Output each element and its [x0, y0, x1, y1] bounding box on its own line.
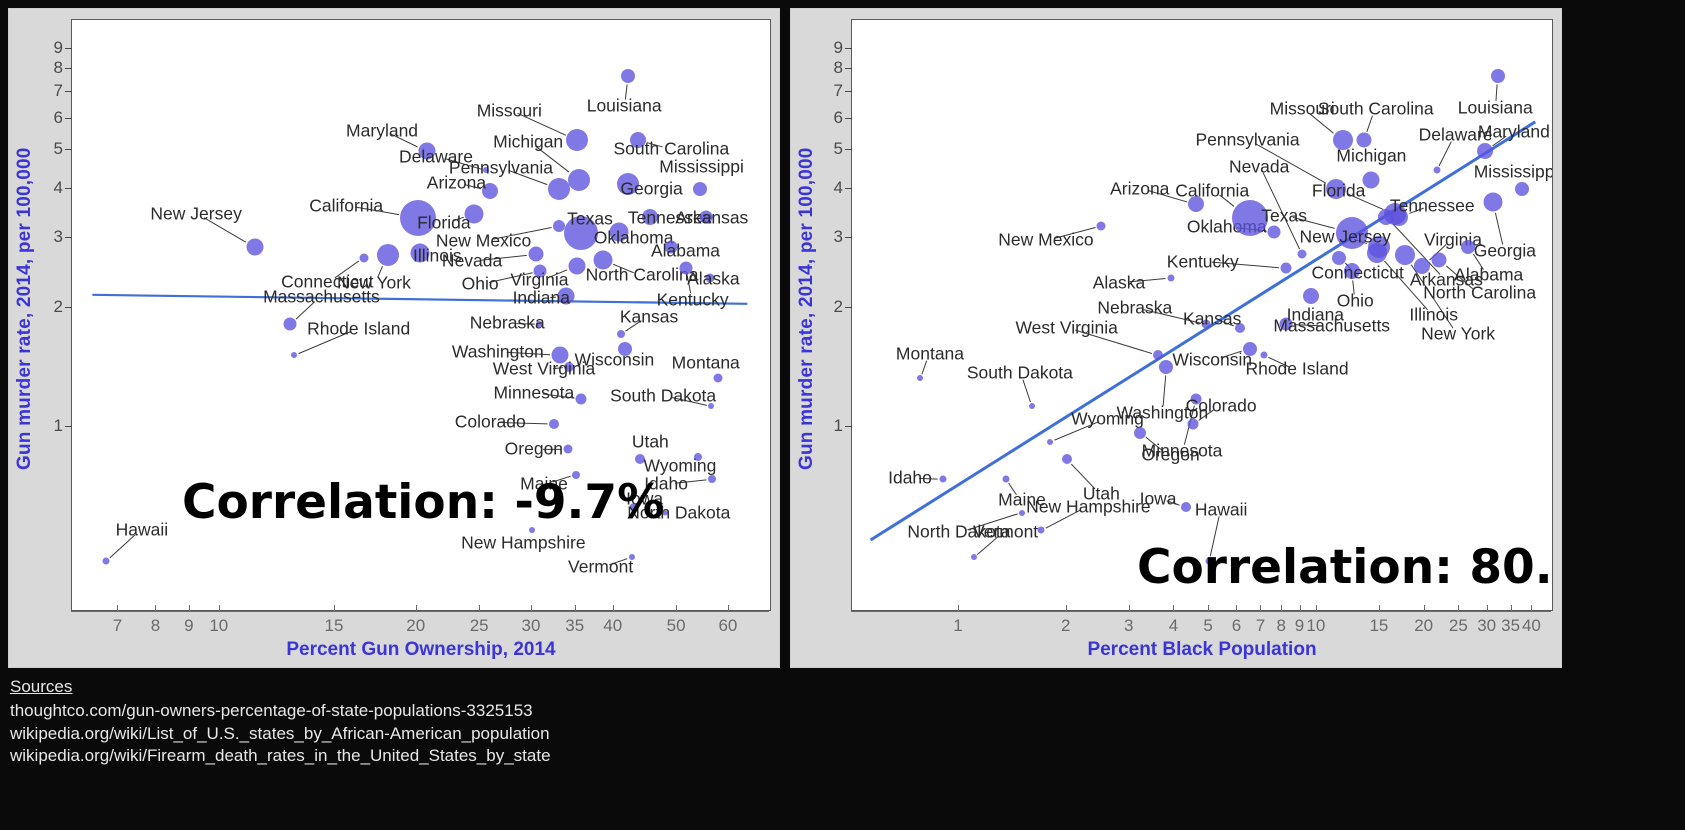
sources-block: Sources thoughtco.com/gun-owners-percent… [10, 676, 551, 768]
sources-heading: Sources [10, 676, 551, 698]
y-tick-label: 2 [809, 297, 843, 317]
state-label: North Dakota [907, 521, 1010, 542]
x-tick-mark [728, 605, 729, 611]
label-leader-line [1495, 213, 1502, 245]
y-tick-mark [65, 91, 72, 92]
state-label: Arizona [1110, 178, 1169, 199]
y-tick-mark [65, 188, 72, 189]
state-label: California [1175, 180, 1249, 201]
scatter-point[interactable] [359, 253, 368, 262]
scatter-point[interactable] [679, 262, 692, 275]
state-label: South Dakota [610, 386, 716, 407]
y-tick-mark [65, 149, 72, 150]
scatter-point[interactable] [563, 445, 572, 454]
scatter-point[interactable] [617, 330, 625, 338]
state-label: Iowa [1140, 488, 1177, 509]
x-tick-label: 40 [1522, 616, 1541, 636]
state-label: New Hampshire [461, 533, 585, 554]
y-tick-label: 1 [29, 416, 63, 436]
y-tick-mark [65, 237, 72, 238]
state-label: Washington [1116, 402, 1208, 423]
state-label: California [309, 195, 383, 216]
state-label: Florida [1312, 180, 1366, 201]
state-label: Michigan [1336, 145, 1406, 166]
state-label: Kansas [1183, 308, 1241, 329]
x-tick-label: 15 [1369, 616, 1388, 636]
state-label: South Dakota [967, 363, 1073, 384]
y-tick-mark [845, 118, 852, 119]
scatter-point[interactable] [1047, 439, 1053, 445]
state-label: North Carolina [1423, 283, 1536, 304]
y-tick-label: 7 [29, 81, 63, 101]
x-tick-label: 5 [1203, 616, 1212, 636]
y-tick-mark [65, 426, 72, 427]
state-label: Nevada [1229, 156, 1289, 177]
x-tick-label: 7 [1256, 616, 1265, 636]
x-tick-label: 10 [1306, 616, 1325, 636]
state-label: Ohio [462, 274, 499, 295]
x-tick-label: 8 [1276, 616, 1285, 636]
y-tick-label: 9 [809, 38, 843, 58]
x-tick-mark [1458, 605, 1459, 611]
state-label: South Carolina [1318, 99, 1434, 120]
scatter-point[interactable] [1062, 454, 1072, 464]
x-tick-mark [1129, 605, 1130, 611]
state-label: New Mexico [998, 229, 1093, 250]
state-label: Texas [1261, 205, 1307, 226]
state-label: New Mexico [436, 230, 531, 251]
x-tick-label: 8 [151, 616, 160, 636]
y-tick-label: 5 [29, 139, 63, 159]
source-link-1[interactable]: thoughtco.com/gun-owners-percentage-of-s… [10, 700, 551, 722]
state-label: Mississippi [1474, 162, 1553, 183]
x-tick-mark [1208, 605, 1209, 611]
scatter-point[interactable] [103, 558, 110, 565]
state-label: Kentucky [1167, 251, 1239, 272]
scatter-point[interactable] [1395, 245, 1415, 265]
x-tick-label: 30 [1477, 616, 1496, 636]
y-tick-mark [845, 426, 852, 427]
chart-panel-black-population: Gun murder rate, 2014, per 100,000 Vermo… [790, 8, 1562, 668]
y-tick-label: 3 [29, 227, 63, 247]
x-tick-label: 25 [1449, 616, 1468, 636]
scatter-point[interactable] [291, 352, 297, 358]
y-tick-label: 6 [29, 108, 63, 128]
scatter-point[interactable] [548, 178, 570, 200]
scatter-point[interactable] [708, 475, 716, 483]
state-label: Michigan [493, 131, 563, 152]
scatter-point[interactable] [621, 69, 635, 83]
x-tick-mark [1487, 605, 1488, 611]
state-label: Missouri [477, 100, 542, 121]
x-axis-line [71, 611, 769, 612]
state-label: Montana [672, 353, 740, 374]
state-label: Rhode Island [307, 319, 410, 340]
chart-panel-gun-ownership: Gun murder rate, 2014, per 100,000 Hawai… [8, 8, 780, 668]
correlation-annotation-left: Correlation: -9.7% [182, 475, 664, 530]
state-label: Arkansas [675, 207, 748, 228]
y-tick-mark [845, 188, 852, 189]
y-tick-label: 4 [809, 178, 843, 198]
y-tick-label: 8 [809, 58, 843, 78]
state-label: Indiana [1287, 305, 1344, 326]
scatter-point[interactable] [1303, 288, 1319, 304]
scatter-point[interactable] [1367, 243, 1387, 263]
y-tick-label: 5 [809, 139, 843, 159]
state-label: New York [337, 272, 411, 293]
state-label: Idaho [888, 468, 932, 489]
scatter-point[interactable] [377, 244, 399, 266]
x-tick-label: 50 [667, 616, 686, 636]
y-tick-label: 7 [809, 81, 843, 101]
state-label: Rhode Island [1245, 359, 1348, 380]
state-label: Alabama [1454, 265, 1523, 286]
state-label: Alaska [1093, 272, 1146, 293]
x-tick-label: 20 [1414, 616, 1433, 636]
x-axis-line [851, 611, 1551, 612]
x-tick-label: 7 [113, 616, 122, 636]
x-tick-label: 20 [406, 616, 425, 636]
state-label: Alaska [687, 268, 740, 289]
scatter-point[interactable] [1298, 250, 1307, 259]
y-tick-mark [65, 68, 72, 69]
y-tick-label: 4 [29, 178, 63, 198]
scatter-point[interactable] [1432, 253, 1447, 268]
state-label: Louisiana [587, 96, 662, 117]
y-tick-mark [65, 118, 72, 119]
source-link-2[interactable]: wikipedia.org/wiki/List_of_U.S._states_b… [10, 723, 551, 745]
x-tick-mark [117, 605, 118, 611]
screenshot-root: Gun murder rate, 2014, per 100,000 Hawai… [0, 0, 1685, 830]
x-tick-label: 35 [565, 616, 584, 636]
x-tick-label: 9 [184, 616, 193, 636]
x-tick-mark [575, 605, 576, 611]
state-label: Colorado [455, 412, 526, 433]
state-label: Indiana [513, 288, 570, 309]
y-tick-mark [845, 307, 852, 308]
x-tick-mark [189, 605, 190, 611]
y-tick-label: 3 [809, 227, 843, 247]
state-label: Ohio [1337, 291, 1374, 312]
scatter-point[interactable] [1515, 182, 1529, 196]
scatter-point[interactable] [246, 239, 263, 256]
plot-area-gun-ownership: HawaiiNew JerseyMassachusettsRhode Islan… [71, 19, 771, 611]
scatter-point[interactable] [1038, 527, 1045, 534]
scatter-point[interactable] [1181, 502, 1191, 512]
x-tick-label: 60 [718, 616, 737, 636]
x-tick-label: 2 [1061, 616, 1070, 636]
y-tick-label: 1 [809, 416, 843, 436]
x-tick-mark [1281, 605, 1282, 611]
scatter-point[interactable] [1268, 225, 1281, 238]
state-label: Hawaii [1195, 499, 1248, 520]
y-tick-label: 8 [29, 58, 63, 78]
x-tick-mark [1236, 605, 1237, 611]
x-tick-label: 30 [522, 616, 541, 636]
y-tick-mark [65, 48, 72, 49]
state-label: Wisconsin [575, 349, 655, 370]
scatter-point[interactable] [1378, 209, 1394, 225]
x-tick-mark [1260, 605, 1261, 611]
state-label: Georgia [1474, 241, 1536, 262]
y-tick-mark [845, 149, 852, 150]
scatter-point[interactable] [566, 129, 588, 151]
scatter-point[interactable] [1483, 193, 1502, 212]
state-label: Nebraska [470, 313, 545, 334]
scatter-point[interactable] [713, 374, 722, 383]
scatter-point[interactable] [939, 476, 946, 483]
x-tick-label: 1 [953, 616, 962, 636]
y-tick-mark [65, 307, 72, 308]
state-label: Illinois [1409, 305, 1458, 326]
state-label: Nevada [442, 250, 502, 271]
state-label: Maryland [1478, 122, 1550, 143]
state-label: Kansas [620, 306, 678, 327]
state-label: New York [1421, 324, 1495, 345]
state-label: Connecticut [1311, 263, 1403, 284]
x-tick-mark [479, 605, 480, 611]
x-tick-mark [155, 605, 156, 611]
x-tick-mark [1300, 605, 1301, 611]
state-label: Montana [896, 344, 964, 365]
x-tick-label: 15 [325, 616, 344, 636]
scatter-point[interactable] [568, 169, 590, 191]
scatter-point[interactable] [1281, 263, 1292, 274]
y-tick-mark [845, 237, 852, 238]
state-label: Alabama [651, 241, 720, 262]
scatter-point[interactable] [283, 318, 296, 331]
scatter-point[interactable] [1029, 403, 1035, 409]
scatter-point[interactable] [971, 554, 977, 560]
x-axis-title-right: Percent Black Population [851, 639, 1553, 661]
state-label: Minnesota [493, 383, 574, 404]
scatter-point[interactable] [1097, 222, 1106, 231]
x-tick-mark [416, 605, 417, 611]
scatter-point[interactable] [576, 393, 587, 404]
correlation-annotation-right: Correlation: 80.5% [1137, 540, 1553, 595]
x-tick-mark [1531, 605, 1532, 611]
x-tick-label: 6 [1232, 616, 1241, 636]
x-tick-label: 40 [603, 616, 622, 636]
x-tick-label: 10 [209, 616, 228, 636]
scatter-point[interactable] [1002, 476, 1009, 483]
state-label: Utah [632, 431, 669, 452]
x-tick-mark [1066, 605, 1067, 611]
x-tick-mark [1316, 605, 1317, 611]
state-label: Minnesota [1142, 441, 1223, 462]
x-tick-label: 35 [1501, 616, 1520, 636]
scatter-point[interactable] [1491, 69, 1505, 83]
x-tick-mark [219, 605, 220, 611]
scatter-point[interactable] [1356, 133, 1371, 148]
scatter-point[interactable] [1363, 171, 1380, 188]
x-axis-title-left: Percent Gun Ownership, 2014 [71, 639, 771, 661]
state-label: Hawaii [116, 520, 169, 541]
state-label: Pennsylvania [1195, 130, 1299, 151]
x-tick-mark [531, 605, 532, 611]
scatter-point[interactable] [553, 220, 565, 232]
scatter-point[interactable] [1134, 427, 1146, 439]
x-tick-mark [1379, 605, 1380, 611]
plot-area-black-population: VermontNorth DakotaIdahoMaineMontanaSout… [851, 19, 1553, 611]
y-tick-label: 6 [809, 108, 843, 128]
x-tick-mark [334, 605, 335, 611]
state-label: Mississippi [659, 156, 744, 177]
scatter-point[interactable] [917, 375, 923, 381]
state-label: Texas [567, 209, 613, 230]
x-tick-mark [676, 605, 677, 611]
y-tick-mark [845, 68, 852, 69]
scatter-point[interactable] [1153, 350, 1163, 360]
state-label: Georgia [620, 178, 682, 199]
state-label: Nebraska [1097, 298, 1172, 319]
state-label: New Jersey [150, 204, 241, 225]
y-tick-label: 2 [29, 297, 63, 317]
x-tick-label: 25 [470, 616, 489, 636]
scatter-point[interactable] [568, 258, 585, 275]
state-label: Oregon [505, 439, 563, 460]
y-tick-label: 9 [29, 38, 63, 58]
x-tick-label: 4 [1169, 616, 1178, 636]
x-tick-mark [1511, 605, 1512, 611]
state-label: Pennsylvania [449, 158, 553, 179]
scatter-point[interactable] [1433, 167, 1440, 174]
scatter-point[interactable] [1477, 143, 1493, 159]
state-label: Maryland [346, 120, 418, 141]
state-label: Louisiana [1458, 97, 1533, 118]
x-tick-label: 3 [1124, 616, 1133, 636]
state-label: Wisconsin [1172, 349, 1252, 370]
y-tick-mark [845, 91, 852, 92]
scatter-point[interactable] [693, 182, 707, 196]
state-label: Tennessee [1390, 195, 1475, 216]
x-tick-mark [1424, 605, 1425, 611]
x-tick-mark [958, 605, 959, 611]
state-label: Vermont [568, 556, 633, 577]
state-label: West Virginia [1015, 318, 1117, 339]
x-tick-mark [1173, 605, 1174, 611]
state-label: New Hampshire [1026, 496, 1150, 517]
scatter-point[interactable] [1260, 352, 1267, 359]
source-link-3[interactable]: wikipedia.org/wiki/Firearm_death_rates_i… [10, 745, 551, 767]
y-tick-mark [845, 48, 852, 49]
x-tick-mark [613, 605, 614, 611]
x-tick-label: 9 [1295, 616, 1304, 636]
scatter-point[interactable] [549, 419, 559, 429]
scatter-point[interactable] [1167, 275, 1174, 282]
